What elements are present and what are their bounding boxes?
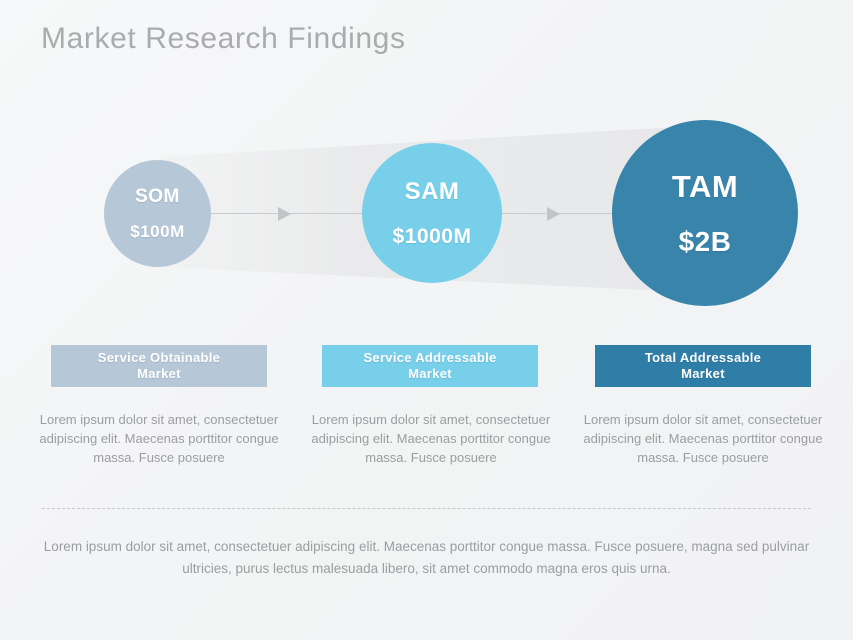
page-title: Market Research Findings — [41, 22, 406, 56]
label-line-1: Service Addressable — [363, 350, 496, 365]
label-line-2: Market — [681, 366, 725, 381]
description-som: Lorem ipsum dolor sit amet, consectetuer… — [39, 411, 279, 468]
arrow-right-icon — [547, 207, 560, 221]
circle-abbr-som: SOM — [135, 187, 180, 206]
label-box-sam[interactable]: Service Addressable Market — [322, 345, 538, 387]
arrow-right-icon — [278, 207, 291, 221]
footer-text: Lorem ipsum dolor sit amet, consectetuer… — [42, 536, 811, 579]
circle-value-tam: $2B — [679, 228, 732, 256]
label-box-text-sam: Service Addressable Market — [363, 350, 496, 383]
description-sam: Lorem ipsum dolor sit amet, consectetuer… — [311, 411, 551, 468]
funnel-circle-tam[interactable]: TAM $2B — [612, 120, 798, 306]
connector-sam-to-tam — [490, 204, 618, 224]
circle-value-sam: $1000M — [393, 226, 472, 247]
funnel-circle-sam[interactable]: SAM $1000M — [362, 143, 502, 283]
connector-som-to-sam — [204, 204, 366, 224]
label-box-tam[interactable]: Total Addressable Market — [595, 345, 811, 387]
label-line-1: Total Addressable — [645, 350, 761, 365]
circle-abbr-tam: TAM — [672, 171, 738, 202]
label-line-2: Market — [408, 366, 452, 381]
label-line-1: Service Obtainable — [98, 350, 220, 365]
slide-canvas: Market Research Findings SOM $100M SAM $… — [0, 0, 853, 640]
label-box-text-som: Service Obtainable Market — [98, 350, 220, 383]
funnel-circle-som[interactable]: SOM $100M — [104, 160, 211, 267]
label-box-som[interactable]: Service Obtainable Market — [51, 345, 267, 387]
label-box-text-tam: Total Addressable Market — [645, 350, 761, 383]
dashed-divider — [42, 508, 811, 509]
label-line-2: Market — [137, 366, 181, 381]
circle-value-som: $100M — [130, 223, 184, 240]
description-tam: Lorem ipsum dolor sit amet, consectetuer… — [583, 411, 823, 468]
circle-abbr-sam: SAM — [405, 180, 460, 204]
